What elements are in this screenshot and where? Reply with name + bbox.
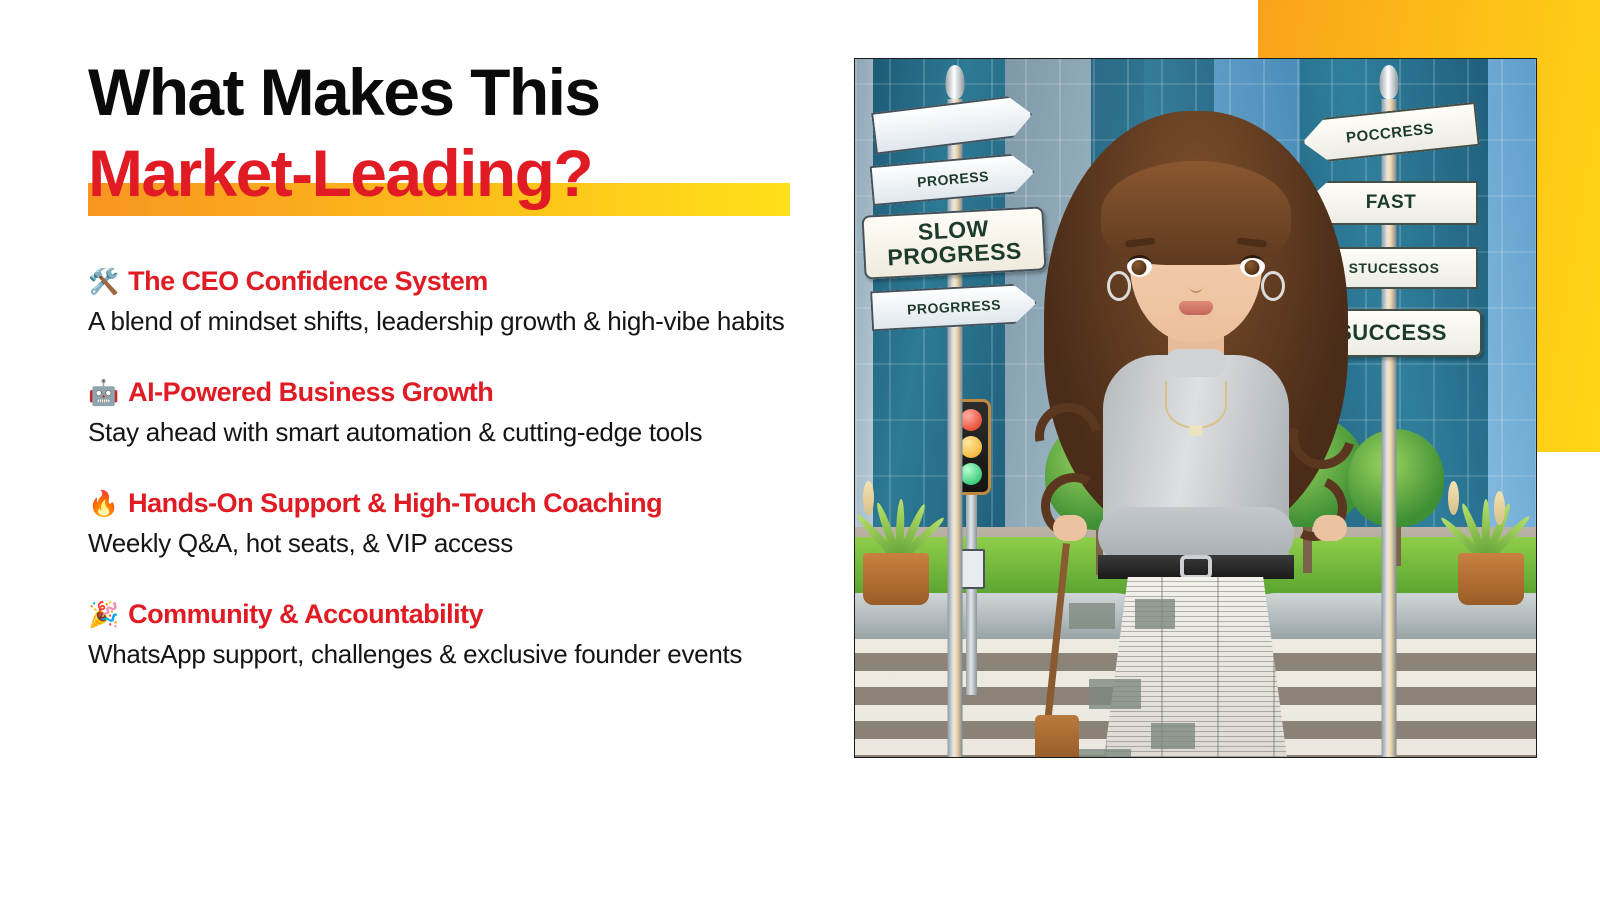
sign-progrress: PROGRRESS [870, 283, 1038, 332]
businesswoman-figure [1031, 103, 1361, 758]
signpost-finial [946, 65, 965, 99]
newsprint-photo [1069, 603, 1115, 629]
feature-description: WhatsApp support, challenges & exclusive… [88, 634, 823, 675]
hero-illustration: PRORESS SLOW PROGRESS PROGRRESS POCCRESS… [854, 58, 1537, 758]
hammer-and-wrench-icon: 🛠️ [88, 269, 119, 294]
hand-right [1053, 515, 1087, 541]
feature-heading: 🔥 Hands-On Support & High-Touch Coaching [88, 487, 828, 520]
feature-heading: 🤖 AI-Powered Business Growth [88, 376, 828, 409]
page-title: What Makes This Market-Leading? [88, 52, 828, 213]
necklace-pendant [1189, 425, 1202, 436]
signpost-left: PRORESS SLOW PROGRESS PROGRRESS [867, 59, 1043, 758]
eye-left [1127, 255, 1152, 277]
feature-list: 🛠️ The CEO Confidence System A blend of … [88, 265, 828, 675]
sign-slow-progress: SLOW PROGRESS [861, 206, 1046, 279]
sign-proress: PRORESS [870, 152, 1037, 206]
robot-icon: 🤖 [88, 380, 119, 405]
hand-left [1313, 515, 1347, 541]
hair-front [1101, 161, 1291, 265]
feature-title: AI-Powered Business Growth [128, 376, 493, 409]
handbag-strap [1043, 543, 1070, 733]
newspaper-print-skirt [1102, 577, 1290, 758]
list-item: 🎉 Community & Accountability WhatsApp su… [88, 598, 828, 675]
hoop-earring-left [1107, 271, 1131, 301]
mouth [1179, 301, 1213, 315]
hoop-earring-right [1261, 271, 1285, 301]
list-item: 🤖 AI-Powered Business Growth Stay ahead … [88, 376, 828, 453]
belt-buckle [1180, 555, 1212, 579]
fire-icon: 🔥 [88, 491, 119, 516]
feature-title: The CEO Confidence System [128, 265, 488, 298]
list-item: 🛠️ The CEO Confidence System A blend of … [88, 265, 828, 342]
newsprint-photo [1089, 679, 1141, 709]
headline-line-1: What Makes This [88, 52, 828, 133]
newsprint-photo [1075, 749, 1131, 758]
cattail [1494, 491, 1505, 525]
nose [1189, 279, 1203, 293]
signpost-finial [1380, 65, 1399, 99]
feature-title: Community & Accountability [128, 598, 483, 631]
iris [1132, 260, 1147, 275]
feature-description: Stay ahead with smart automation & cutti… [88, 412, 823, 453]
party-popper-icon: 🎉 [88, 602, 119, 627]
feature-title: Hands-On Support & High-Touch Coaching [128, 487, 662, 520]
headline-line-2: Market-Leading? [88, 133, 828, 214]
turtleneck-collar [1165, 349, 1227, 377]
feature-heading: 🛠️ The CEO Confidence System [88, 265, 828, 298]
feature-description: Weekly Q&A, hot seats, & VIP access [88, 523, 823, 564]
list-item: 🔥 Hands-On Support & High-Touch Coaching… [88, 487, 828, 564]
eye-right [1240, 255, 1265, 277]
feature-heading: 🎉 Community & Accountability [88, 598, 828, 631]
content-column: What Makes This Market-Leading? 🛠️ The C… [88, 52, 828, 675]
handbag [1035, 715, 1079, 758]
necklace-chain [1165, 381, 1227, 429]
newsprint-photo [1135, 599, 1175, 629]
feature-description: A blend of mindset shifts, leadership gr… [88, 301, 823, 342]
newsprint-photo [1151, 723, 1195, 749]
iris [1245, 260, 1260, 275]
